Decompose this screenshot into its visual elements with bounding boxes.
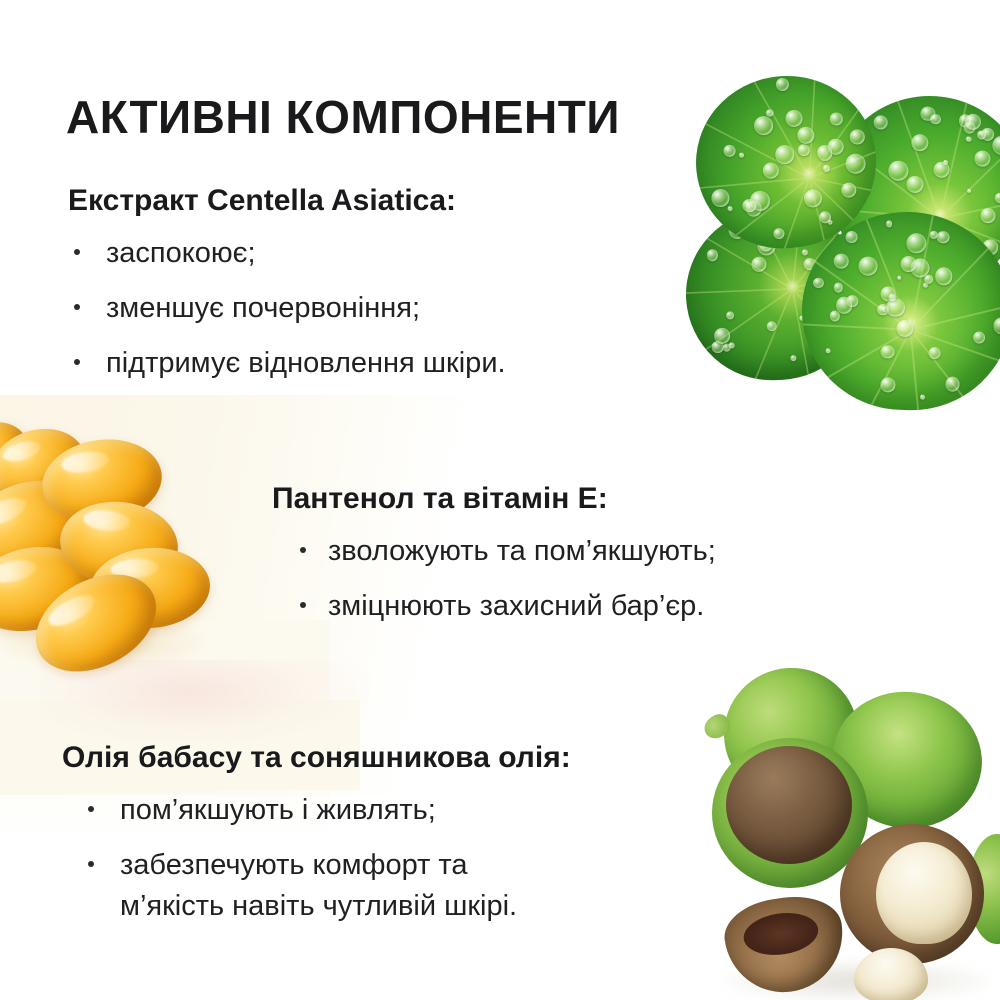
page-title: АКТИВНІ КОМПОНЕНТИ [66, 93, 620, 141]
bullet-text: пом’якшують і живлять; [120, 790, 571, 831]
section-heading-oils: Олія бабасу та соняшникова олія: [62, 740, 571, 776]
list-item: підтримує відновлення шкіри. [68, 343, 506, 384]
bullet-text: зволожують та пом’якшують; [328, 531, 716, 572]
list-item: зміцнюють захисний бар’єр. [272, 586, 716, 627]
background-pink-wash [40, 660, 370, 750]
macadamia-kernel [876, 842, 972, 944]
bullet-dot-icon [74, 359, 80, 365]
bullet-dot-icon [88, 861, 94, 867]
section-heading-panthenol: Пантенол та вітамін Е: [272, 481, 716, 517]
section-oils: Олія бабасу та соняшникова олія: пом’якш… [62, 740, 571, 928]
centella-leaf-bottom-right [799, 208, 1000, 413]
bullet-text: забезпечують комфорт та м’якість навіть … [120, 845, 571, 927]
bullet-list-centella: заспокоює; зменшує почервоніння; підтрим… [68, 233, 506, 385]
macadamia-nuts-photo [692, 648, 1000, 1000]
list-item: пом’якшують і живлять; [62, 790, 571, 831]
bullet-dot-icon [300, 602, 306, 608]
list-item: заспокоює; [68, 233, 506, 274]
section-panthenol: Пантенол та вітамін Е: зволожують та пом… [272, 481, 716, 627]
bullet-text: заспокоює; [106, 233, 506, 274]
active-ingredients-poster: АКТИВНІ КОМПОНЕНТИ Екстракт Centella Asi… [0, 0, 1000, 1000]
bullet-dot-icon [88, 806, 94, 812]
bullet-dot-icon [300, 547, 306, 553]
list-item: забезпечують комфорт та м’якість навіть … [62, 845, 571, 927]
bullet-dot-icon [74, 249, 80, 255]
bullet-text: підтримує відновлення шкіри. [106, 343, 506, 384]
bullet-text: зміцнюють захисний бар’єр. [328, 586, 716, 627]
macadamia-brown-seed [726, 746, 852, 864]
centella-leaves-photo [684, 62, 1000, 422]
bullet-text: зменшує почервоніння; [106, 288, 506, 329]
bullet-text-line-2: м’якість навіть чутливій шкірі. [120, 886, 571, 927]
list-item: зменшує почервоніння; [68, 288, 506, 329]
bullet-text-line-1: забезпечують комфорт та [120, 849, 468, 881]
bullet-list-oils: пом’якшують і живлять; забезпечують комф… [62, 790, 571, 928]
bullet-dot-icon [74, 304, 80, 310]
section-centella: Екстракт Centella Asiatica: заспокоює; з… [68, 183, 506, 385]
vitamin-e-capsules-photo [0, 420, 236, 670]
list-item: зволожують та пом’якшують; [272, 531, 716, 572]
section-heading-centella: Екстракт Centella Asiatica: [68, 183, 506, 219]
bullet-list-panthenol: зволожують та пом’якшують; зміцнюють зах… [272, 531, 716, 627]
